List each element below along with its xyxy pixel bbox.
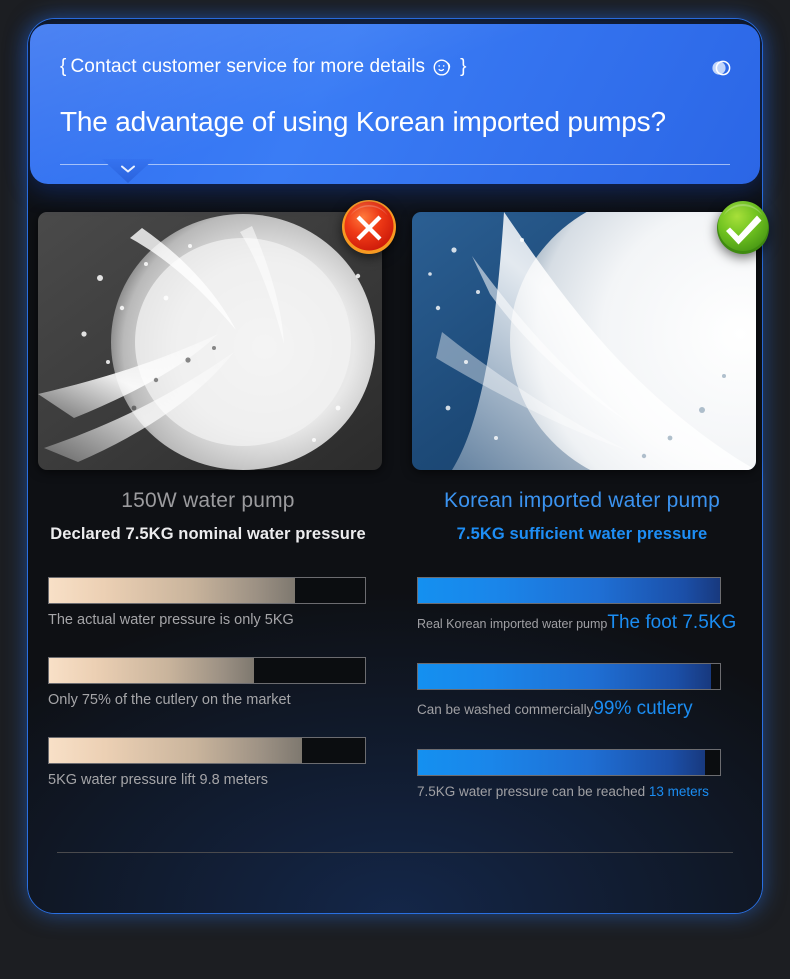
bar-label-lead: Can be washed commercially xyxy=(417,702,593,717)
pump-name-bad: 150W water pump xyxy=(30,489,386,513)
bar-track xyxy=(417,577,721,604)
customer-service-smiley-icon xyxy=(432,57,453,78)
bar-track xyxy=(417,749,721,776)
bar-label: 5KG water pressure lift 9.8 meters xyxy=(48,772,386,788)
bar-label-highlight: The foot 7.5KG xyxy=(607,612,736,633)
green-check-badge-icon xyxy=(714,198,772,256)
bar-fill xyxy=(418,750,705,775)
column-150w-pump: 150W water pump Declared 7.5KG nominal w… xyxy=(30,200,386,860)
header-pointer-tail xyxy=(102,160,154,186)
bar-track xyxy=(48,577,366,604)
pump-name-good: Korean imported water pump xyxy=(404,489,760,513)
bar-block: 5KG water pressure lift 9.8 meters xyxy=(30,737,386,788)
footer-divider xyxy=(57,852,733,853)
bar-track xyxy=(417,663,721,690)
page-title: The advantage of using Korean imported p… xyxy=(60,106,666,138)
bar-label: The actual water pressure is only 5KG xyxy=(48,612,386,628)
bars-bad: The actual water pressure is only 5KG On… xyxy=(30,577,386,788)
bar-label-highlight: 99% cutlery xyxy=(593,698,692,719)
red-x-badge-icon xyxy=(340,198,398,256)
grayscale-water-spray-photo xyxy=(38,212,382,470)
screen: { Contact customer service for more deta… xyxy=(0,0,790,979)
bar-label: Can be washed commercially99% cutlery xyxy=(417,698,760,720)
bar-block: Real Korean imported water pumpThe foot … xyxy=(404,577,760,634)
header-divider xyxy=(60,164,730,165)
bar-block: Only 75% of the cutlery on the market xyxy=(30,657,386,708)
bar-fill xyxy=(49,578,295,603)
bar-block: The actual water pressure is only 5KG xyxy=(30,577,386,628)
bar-block: 7.5KG water pressure can be reached 13 m… xyxy=(404,749,760,799)
bar-fill xyxy=(418,664,711,689)
photo-wrap-good xyxy=(412,212,756,470)
pump-claim-good: 7.5KG sufficient water pressure xyxy=(404,525,760,544)
chevron-down-icon xyxy=(119,162,137,174)
bar-label: Real Korean imported water pumpThe foot … xyxy=(417,612,760,634)
bar-fill xyxy=(49,738,302,763)
bars-good: Real Korean imported water pumpThe foot … xyxy=(404,577,760,799)
pump-claim-bad: Declared 7.5KG nominal water pressure xyxy=(30,525,386,544)
bar-label: 7.5KG water pressure can be reached 13 m… xyxy=(417,784,760,799)
brace-open: { xyxy=(60,56,66,78)
customer-service-text: Contact customer service for more detail… xyxy=(70,56,425,78)
bar-label-lead: Real Korean imported water pump xyxy=(417,617,607,631)
bar-label: Only 75% of the cutlery on the market xyxy=(48,692,386,708)
bar-fill xyxy=(418,578,720,603)
comparison-columns: 150W water pump Declared 7.5KG nominal w… xyxy=(30,200,760,860)
blue-water-spray-photo xyxy=(412,212,756,470)
contrast-toggle-icon[interactable] xyxy=(709,56,733,80)
bar-fill xyxy=(49,658,254,683)
customer-service-note: { Contact customer service for more deta… xyxy=(60,56,467,78)
bar-track xyxy=(48,737,366,764)
column-korean-pump: Korean imported water pump 7.5KG suffici… xyxy=(404,200,760,860)
photo-wrap-bad xyxy=(38,212,382,470)
bar-track xyxy=(48,657,366,684)
bar-label-lead: 7.5KG water pressure can be reached xyxy=(417,784,645,799)
brace-close: } xyxy=(460,56,466,78)
bar-label-highlight: 13 meters xyxy=(649,784,709,799)
bar-block: Can be washed commercially99% cutlery xyxy=(404,663,760,720)
